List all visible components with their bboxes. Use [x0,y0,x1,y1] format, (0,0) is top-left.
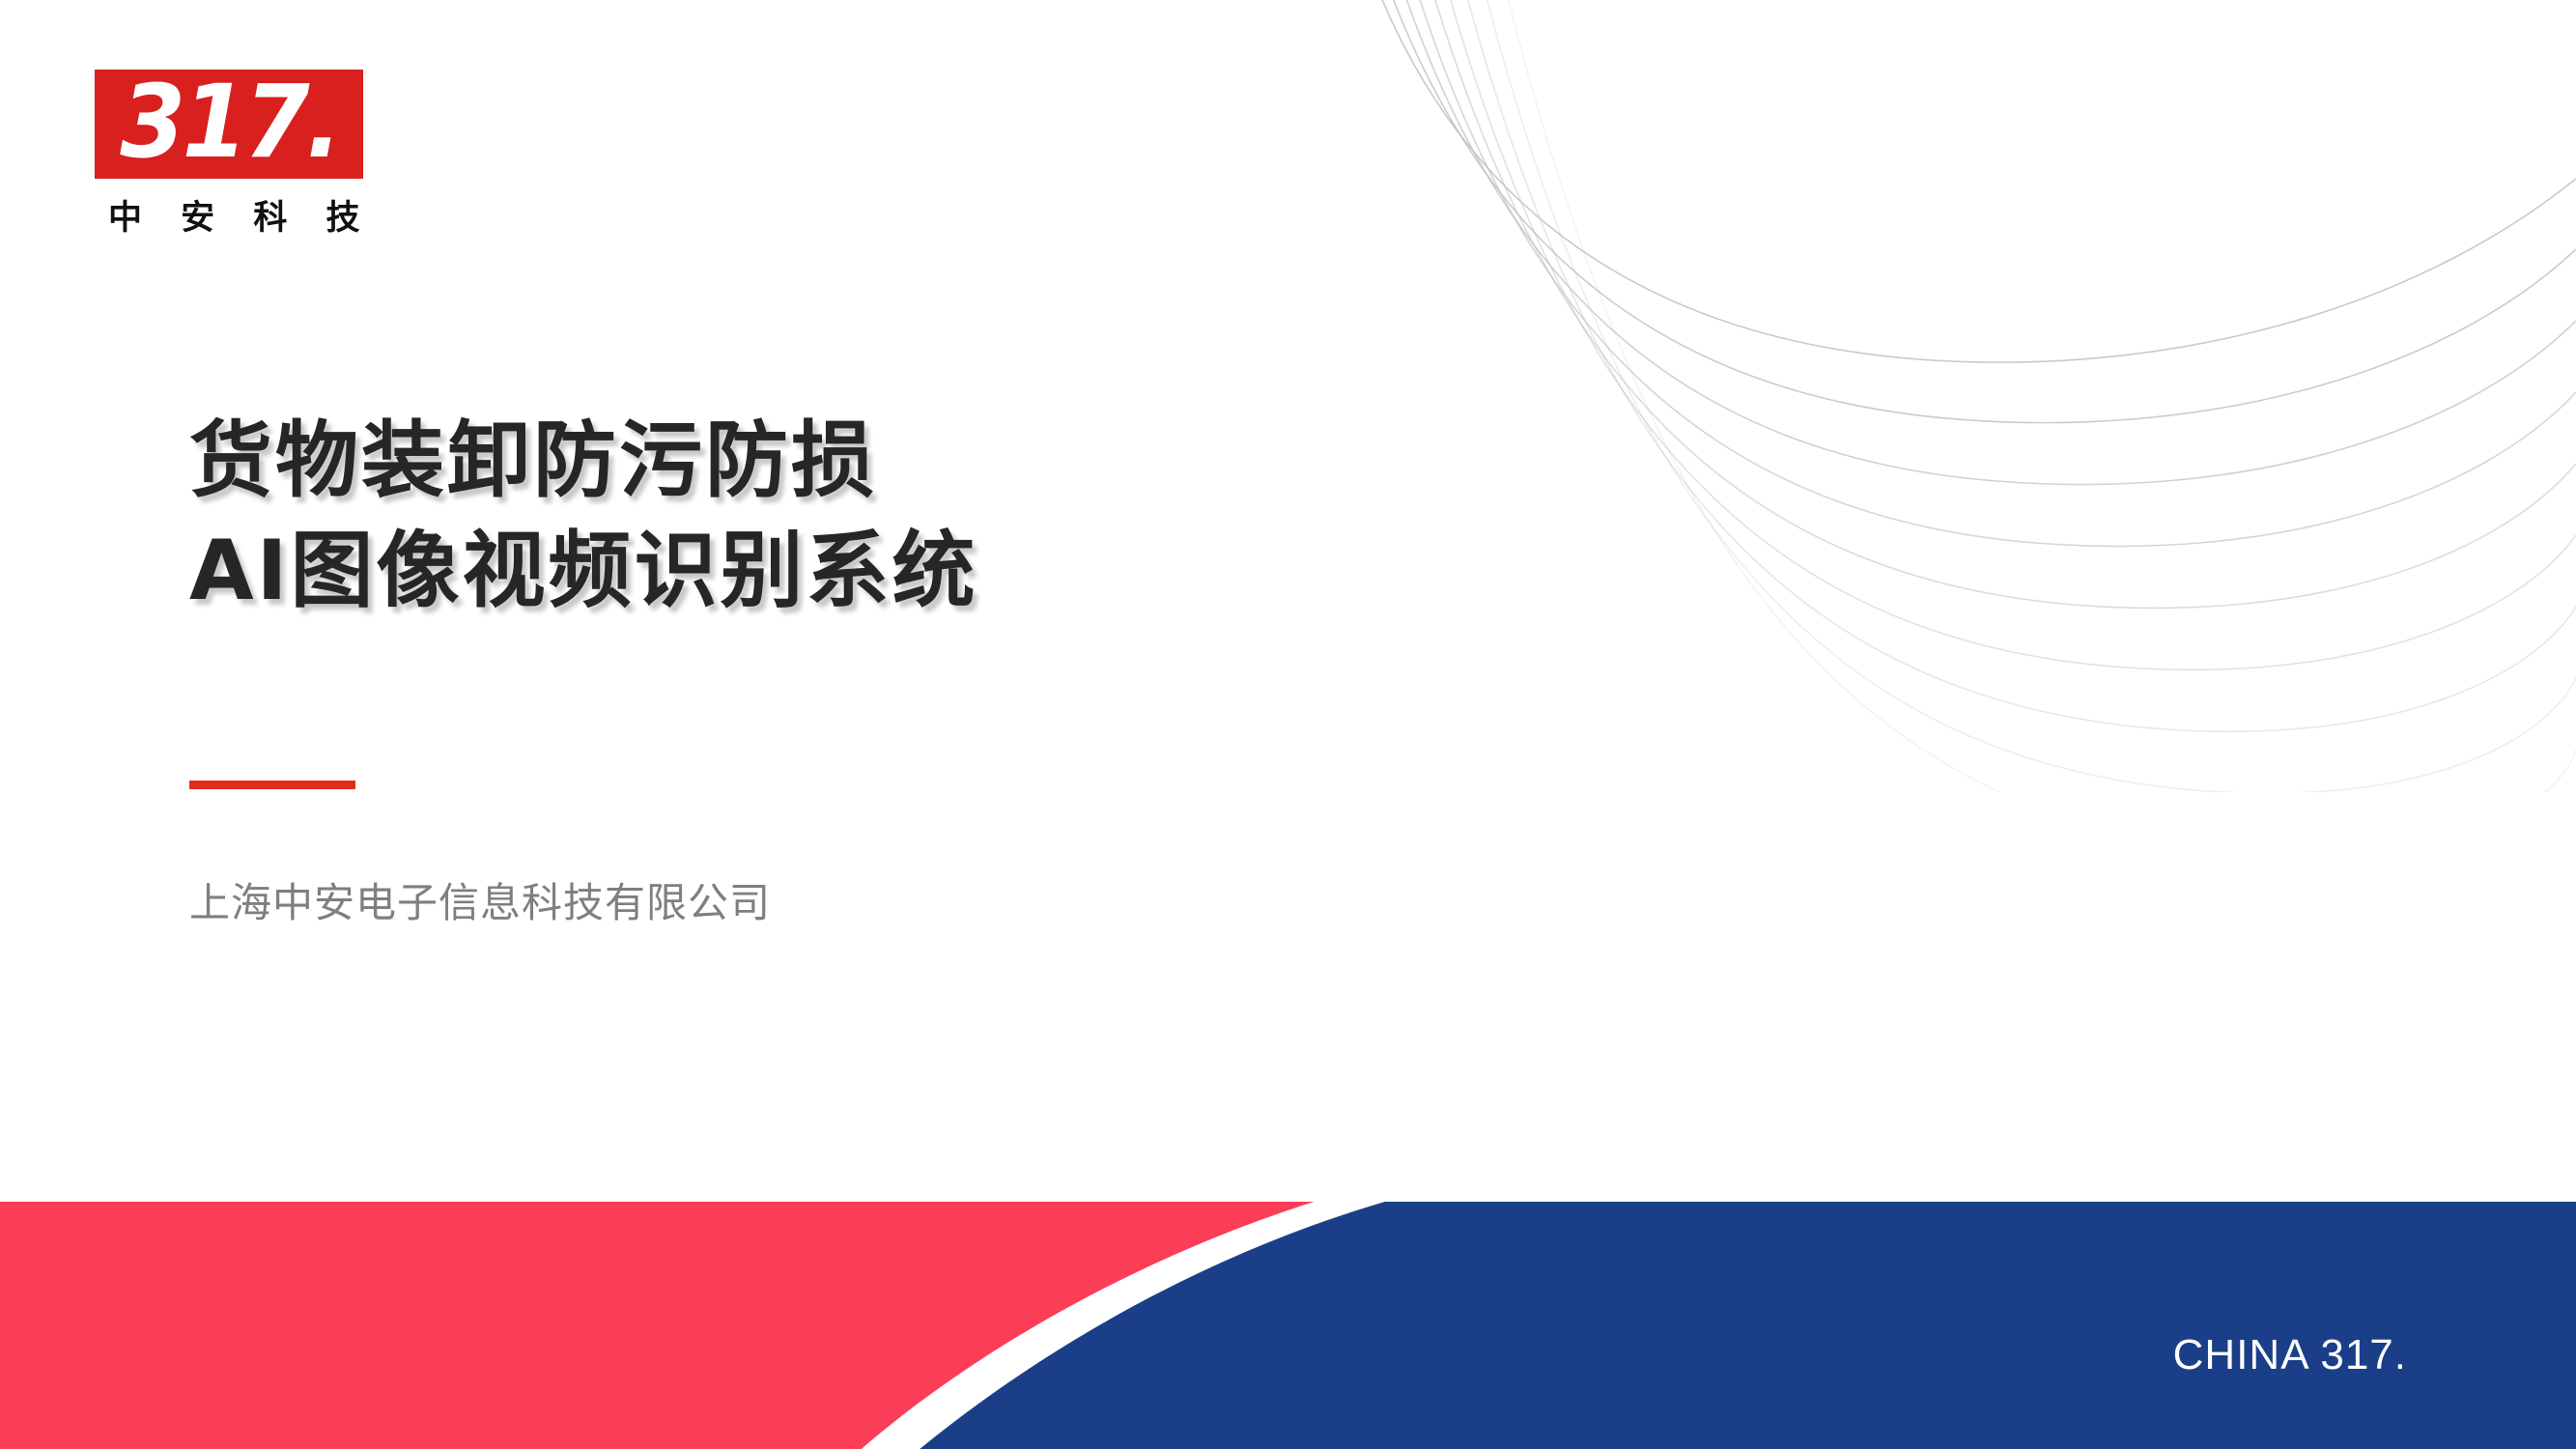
footer-band: CHINA 317. [0,1202,2576,1449]
footer-shapes [0,1202,2576,1449]
decorative-swoosh-lines [1320,0,2576,792]
title-line-1: 货物装卸防污防损 [189,406,1445,516]
cover-slide: 317. 中 安 科 技 货物装卸防污防损 AI图像视频识别系统 上海中安电子信… [0,0,2576,1449]
logo-mark: 317. [95,70,363,179]
logo-subtitle: 中 安 科 技 [95,190,363,240]
brand-logo: 317. 中 安 科 技 [95,70,365,240]
logo-mark-text: 317. [120,71,338,172]
footer-caption: CHINA 317. [2173,1331,2407,1379]
page-title: 货物装卸防污防损 AI图像视频识别系统 [189,406,1445,626]
title-divider [189,781,355,789]
company-name: 上海中安电子信息科技有限公司 [189,877,771,929]
title-line-2: AI图像视频识别系统 [189,516,1445,626]
